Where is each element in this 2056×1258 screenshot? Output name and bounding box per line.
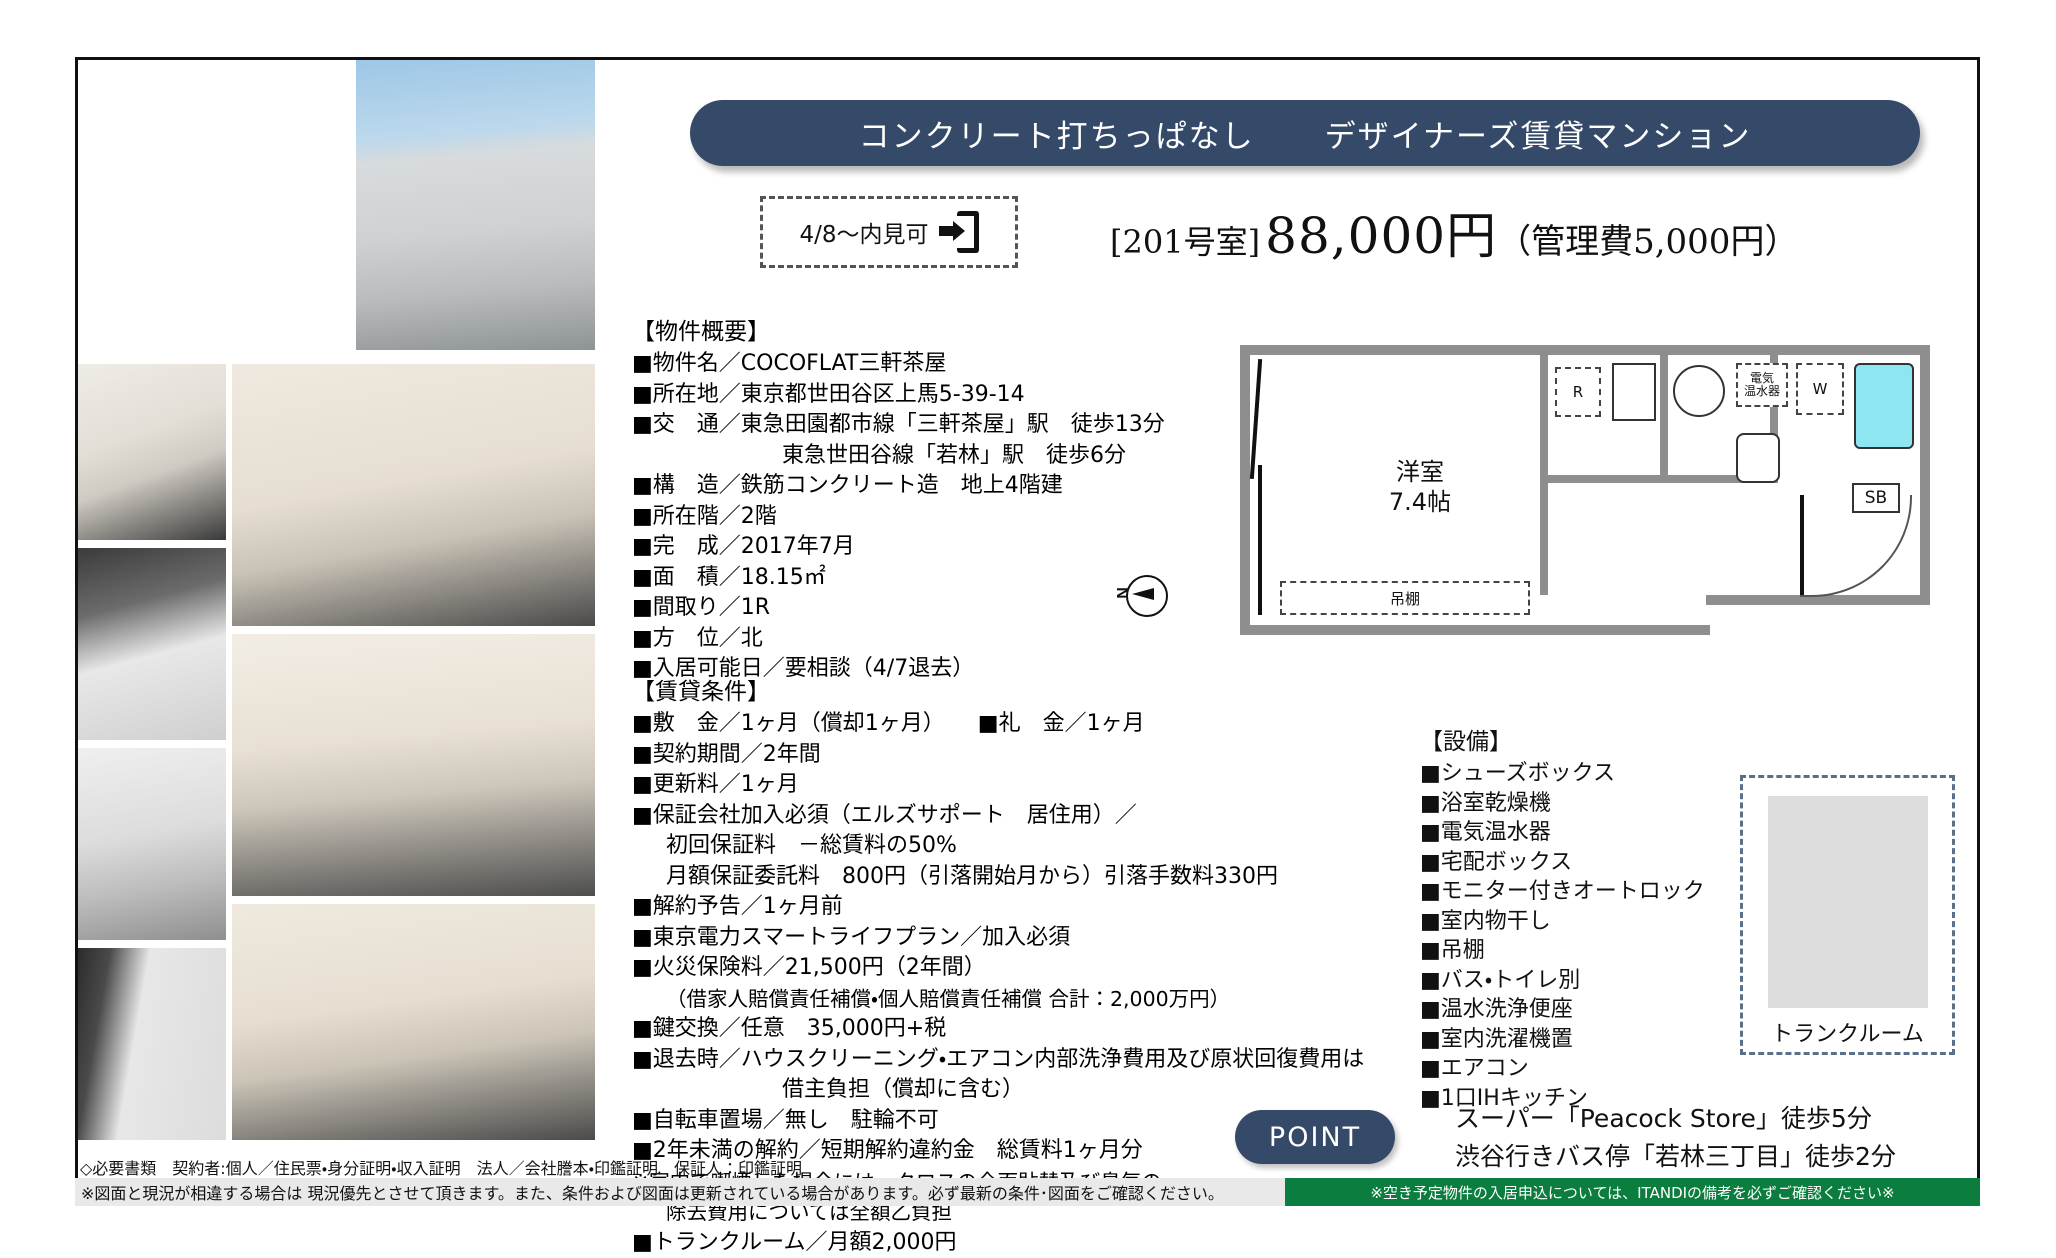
equipment-item: ■温水洗浄便座 [1420,995,1710,1025]
point-notes: スーパー「Peacock Store」徒歩5分 渋谷行きバス停「若林三丁目」徒歩… [1455,1100,1896,1176]
photo-kitchen-small [78,364,226,540]
equipment-item: ■電気温水器 [1420,818,1710,848]
water-heater-label: 電気 温水器 [1744,372,1780,398]
floorplan-bathtub [1854,363,1914,449]
footer-disclaimer: ※図面と現況が相違する場合は 現況優先とさせて頂きます。また、条件および図面は更… [75,1178,1285,1206]
room-number: [201号室] [1110,223,1260,261]
terms-item: ■退去時／ハウスクリーニング・エアコン内部洗浄費用及び原状回復費用は [632,1045,1532,1076]
viewing-availability-box: 4/8〜内見可 [760,196,1018,268]
floorplan-hanging-shelf: 吊棚 [1280,581,1530,615]
equipment-item: ■室内物干し [1420,907,1710,937]
floorplan-sink [1612,363,1656,421]
photo-room-3 [232,904,595,1140]
brand-panel [78,60,356,360]
equipment-list: 【設備】 ■シューズボックス ■浴室乾燥機 ■電気温水器 ■宅配ボックス ■モニ… [1420,722,1710,1113]
terms-item: 初回保証料 －総賃料の50% [632,831,1532,862]
photo-exterior [355,60,595,350]
point-badge: POINT [1235,1110,1395,1164]
floorplan-toilet [1736,433,1780,483]
compass-north-icon: N [1118,575,1164,621]
terms-item: 借主負担（償却に含む） [632,1075,1532,1106]
footer-green-note: ※空き予定物件の入居申込については、ITANDIの備考を必ずご確認ください※ [1285,1178,1980,1206]
floorplan-washer: W [1796,363,1844,415]
terms-item: ■更新料／1ヶ月 [632,770,1532,801]
terms-item: ■トランクルーム／月額2,000円 [632,1228,1532,1258]
terms-item: ■保証会社加入必須（エルズサポート 居住用）／ [632,801,1532,832]
banner-text-left: コンクリート打ちっぱなし [859,111,1255,156]
floor-plan: R 電気 温水器 W SB 吊棚 洋室 7.4帖 [1240,345,1930,655]
floorplan-room-label: 洋室 7.4帖 [1340,457,1500,517]
terms-item: ■自転車置場／無し 駐輪不可 [632,1106,1532,1137]
terms-item: ■火災保険料／21,500円（2年間） [632,953,1532,984]
floorplan-ih-stove [1673,365,1725,417]
photo-room-2 [232,634,595,896]
equipment-item: ■宅配ボックス [1420,848,1710,878]
photo-trunk-room [1768,796,1928,1008]
floorplan-water-heater: 電気 温水器 [1736,363,1788,407]
floorplan-sb: SB [1852,483,1900,513]
photo-bath [78,548,226,740]
floorplan-fridge: R [1555,367,1601,417]
photo-entrance [78,948,226,1140]
management-fee: （管理費5,000円） [1497,222,1798,262]
terms-item: （借家人賠償責任補償・個人賠償責任補償 合計：2,000万円） [632,984,1532,1015]
terms-item: 月額保証委託料 800円（引落開始月から）引落手数料330円 [632,862,1532,893]
terms-item: ■解約予告／1ヶ月前 [632,892,1532,923]
trunk-room-panel: トランクルーム [1740,775,1955,1055]
enter-door-icon [939,211,979,253]
rental-flyer: FOR RENT COCOFLAT SANGEN-JAYA コンクリート打ちっぱ… [0,0,2056,1233]
equipment-item: ■バス・トイレ別 [1420,966,1710,996]
overview-heading: 【物件概要】 [632,312,1392,346]
headline-banner: コンクリート打ちっぱなし デザイナーズ賃貸マンション [690,100,1920,166]
terms-item: ■敷 金／1ヶ月（償却1ヶ月） ■礼 金／1ヶ月 [632,709,1532,740]
footer-documents-note: ◇必要書類 契約者:個人／住民票・身分証明・収入証明 法人／会社謄本・印鑑証明 … [80,1155,802,1179]
equipment-heading: 【設備】 [1420,722,1710,756]
price-line: [201号室] 88,000円（管理費5,000円） [1110,196,1798,268]
viewing-date-text: 4/8〜内見可 [799,215,928,249]
terms-item: ■鍵交換／任意 35,000円+税 [632,1014,1532,1045]
trunk-room-caption: トランクルーム [1771,1016,1924,1048]
point-line: 渋谷行きバス停「若林三丁目」徒歩2分 [1455,1138,1896,1176]
equipment-item: ■室内洗濯機置 [1420,1025,1710,1055]
equipment-item: ■吊棚 [1420,936,1710,966]
equipment-item: ■モニター付きオートロック [1420,877,1710,907]
rent-amount: 88,000円 [1265,207,1497,265]
banner-text-right: デザイナーズ賃貸マンション [1325,111,1752,156]
photo-room-1 [232,364,595,626]
terms-item: ■契約期間／2年間 [632,740,1532,771]
terms-heading: 【賃貸条件】 [632,672,1532,706]
point-line: スーパー「Peacock Store」徒歩5分 [1455,1100,1896,1138]
equipment-item: ■シューズボックス [1420,759,1710,789]
equipment-item: ■エアコン [1420,1054,1710,1084]
equipment-item: ■浴室乾燥機 [1420,789,1710,819]
photo-toilet [78,748,226,940]
terms-item: ■東京電力スマートライフプラン／加入必須 [632,923,1532,954]
